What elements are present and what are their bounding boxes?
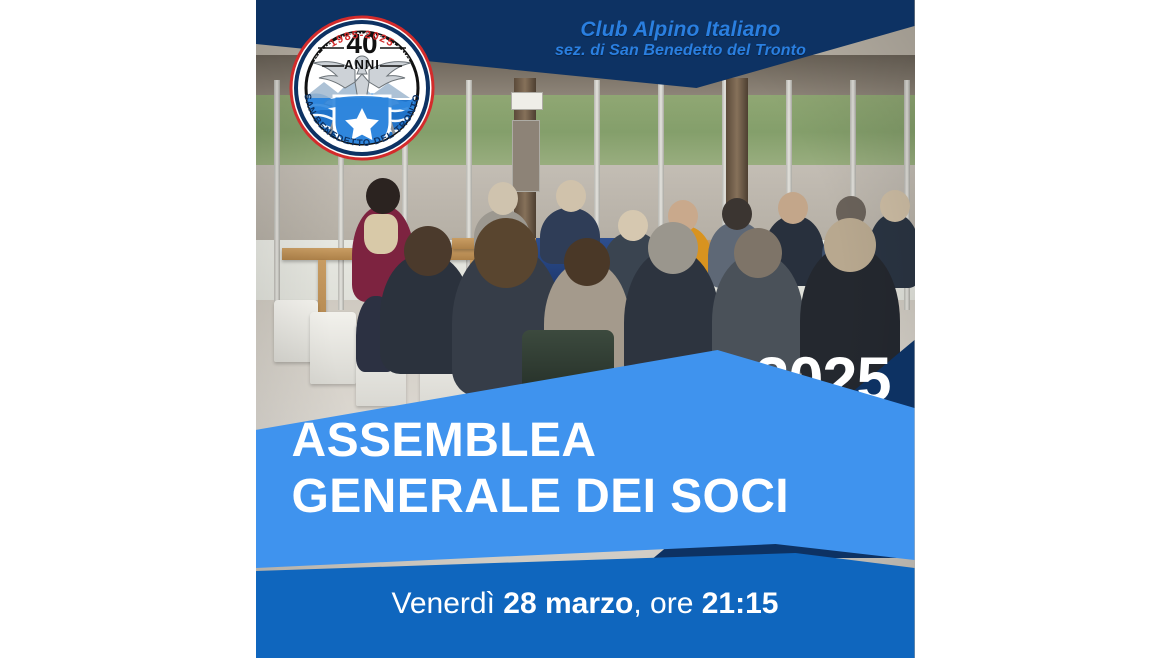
date-separator: , xyxy=(633,587,650,620)
event-date-line: Venerdì 28 marzo, ore 21:15 xyxy=(256,589,915,619)
poster-canvas: Club Alpino Italiano sez. di San Benedet… xyxy=(256,0,915,658)
date-weekday: Venerdì xyxy=(392,587,504,620)
title-line-2: GENERALE DEI SOCI xyxy=(292,469,852,525)
date-time-label: ore xyxy=(650,587,702,620)
cai-logo: CLUB ALPINO ITALIANO 40 ANNI 1985-2025 S… xyxy=(288,8,436,166)
logo-anniversary-word: ANNI xyxy=(344,57,380,72)
organization-name: Club Alpino Italiano xyxy=(471,18,891,42)
section-name: sez. di San Benedetto del Tronto xyxy=(471,42,891,60)
date-time: 21:15 xyxy=(702,587,779,620)
poster-title: ASSEMBLEA GENERALE DEI SOCI xyxy=(292,413,852,525)
title-line-1: ASSEMBLEA xyxy=(292,413,852,469)
date-day-month: 28 marzo xyxy=(503,587,633,620)
brand-text-block: Club Alpino Italiano sez. di San Benedet… xyxy=(471,18,891,59)
